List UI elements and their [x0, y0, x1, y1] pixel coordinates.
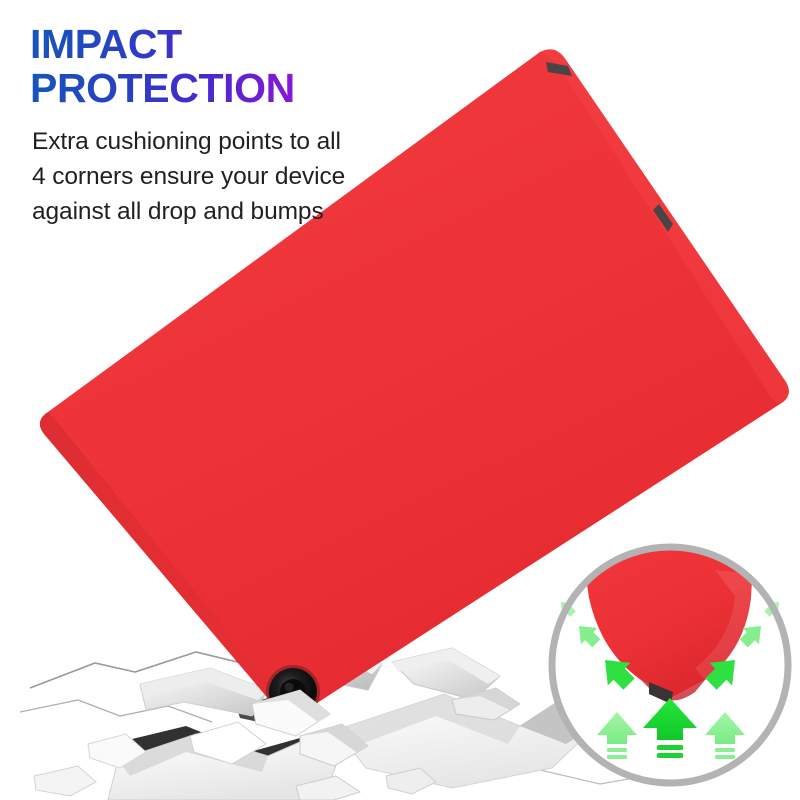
corner-detail-magnifier — [545, 540, 795, 790]
headline-line-1: IMPACT — [30, 22, 370, 66]
headline-line-2: PROTECTION — [30, 66, 370, 110]
body-copy: Extra cushioning points to all 4 corners… — [32, 124, 352, 229]
copy-block: IMPACT PROTECTION Extra cushioning point… — [30, 22, 370, 229]
product-feature-banner: IMPACT PROTECTION Extra cushioning point… — [0, 0, 800, 800]
